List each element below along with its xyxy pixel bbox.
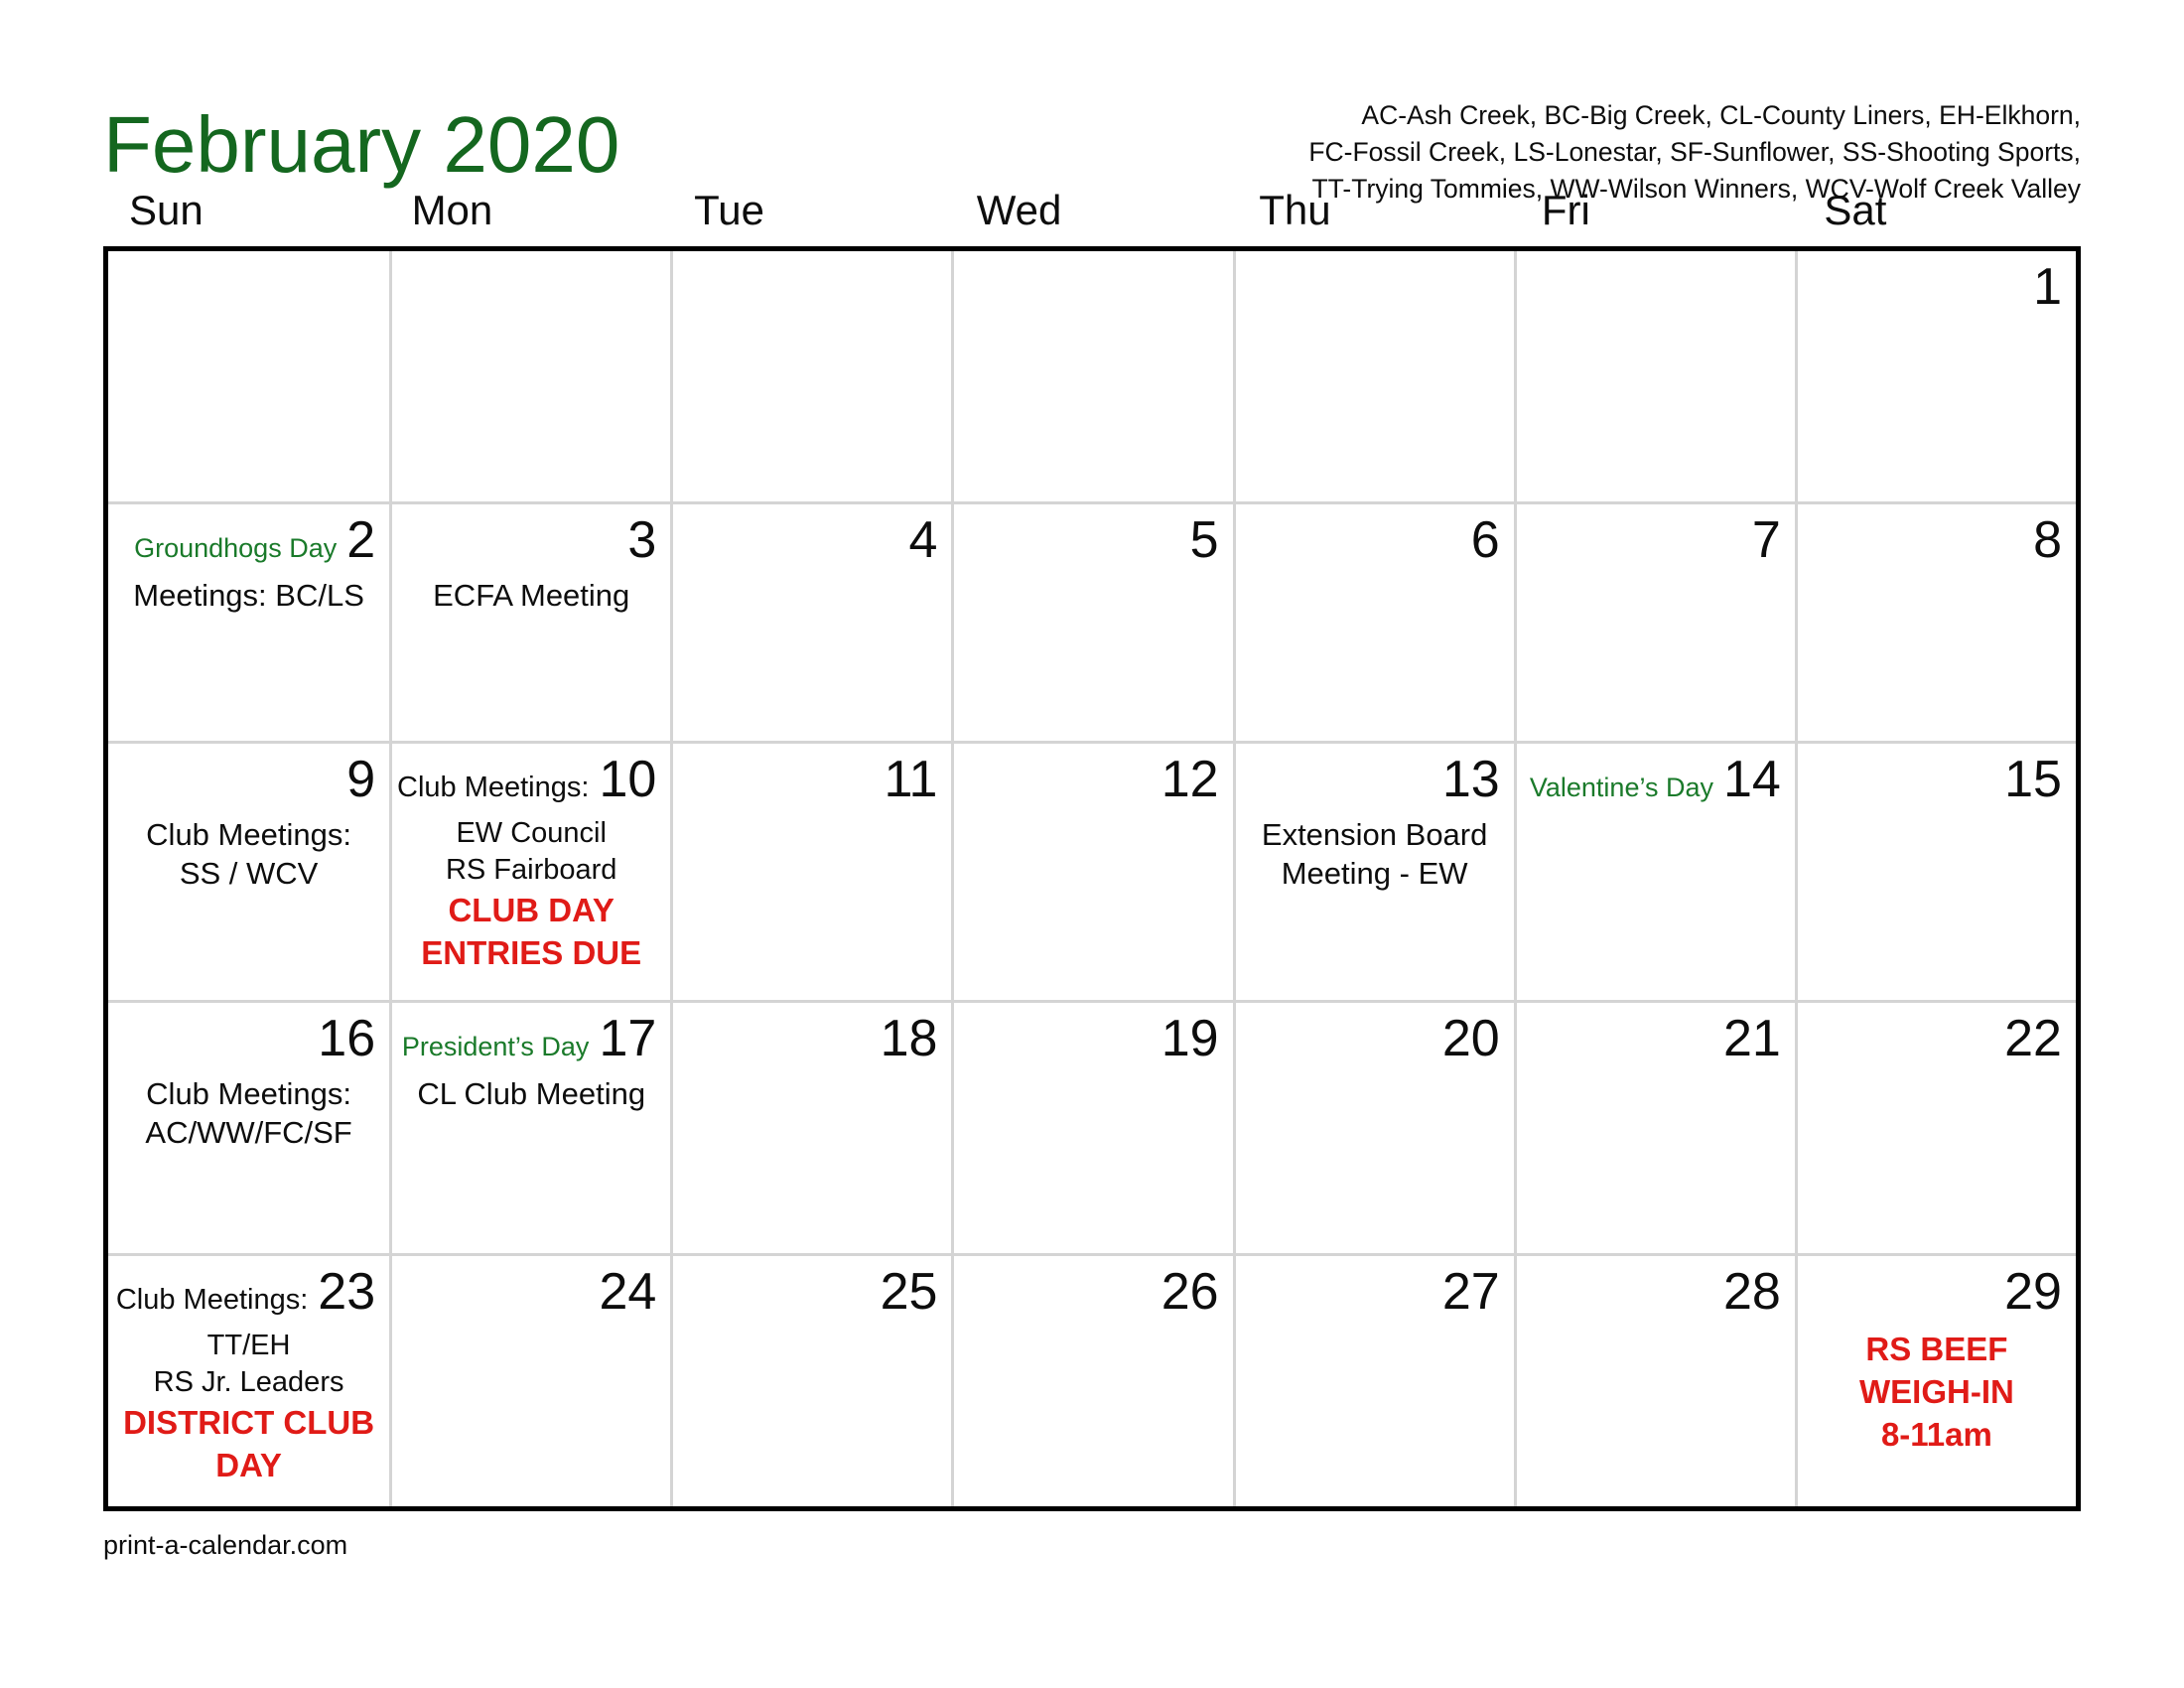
event-list: EW CouncilRS FairboardCLUB DAYENTRIES DU… xyxy=(406,815,656,974)
day-cell[interactable]: 19 xyxy=(951,1003,1232,1253)
page-header: February 2020 AC-Ash Creek, BC-Big Creek… xyxy=(0,0,2184,187)
day-cell[interactable]: 29RS BEEFWEIGH-IN8-11am xyxy=(1795,1256,2076,1506)
day-cell[interactable]: 22 xyxy=(1795,1003,2076,1253)
day-number: 4 xyxy=(909,512,938,568)
event-text: Club Meetings: xyxy=(122,1074,375,1113)
holiday-label: Valentine’s Day xyxy=(1530,771,1713,804)
day-header xyxy=(406,259,656,321)
day-number: 9 xyxy=(346,752,375,807)
day-cell[interactable]: 28 xyxy=(1514,1256,1795,1506)
day-header: 24 xyxy=(406,1264,656,1326)
day-cell[interactable]: 15 xyxy=(1795,744,2076,1000)
day-cell[interactable]: 1 xyxy=(1795,251,2076,501)
day-header: Club Meetings:23 xyxy=(122,1264,375,1326)
day-header: 4 xyxy=(687,512,937,574)
calendar-grid: 1Groundhogs Day2Meetings: BC/LS3ECFA Mee… xyxy=(103,246,2081,1511)
day-number: 8 xyxy=(2033,512,2062,568)
day-header: President’s Day17 xyxy=(406,1011,656,1072)
day-number: 18 xyxy=(881,1011,938,1066)
weekday-mon: Mon xyxy=(386,187,669,246)
day-number: 23 xyxy=(318,1264,375,1320)
day-cell[interactable]: 26 xyxy=(951,1256,1232,1506)
day-header: 26 xyxy=(968,1264,1218,1326)
event-alert-text: RS BEEF xyxy=(1812,1328,2062,1370)
inline-event-label: Club Meetings: xyxy=(116,1282,308,1318)
event-text: EW Council xyxy=(406,815,656,852)
day-header: 19 xyxy=(968,1011,1218,1072)
day-number: 14 xyxy=(1723,752,1781,807)
event-alert-text: DAY xyxy=(122,1444,375,1486)
day-number: 26 xyxy=(1161,1264,1219,1320)
day-number: 15 xyxy=(2004,752,2062,807)
day-header: 7 xyxy=(1531,512,1781,574)
event-text: RS Fairboard xyxy=(406,852,656,889)
day-header xyxy=(1531,259,1781,321)
event-text: RS Jr. Leaders xyxy=(122,1364,375,1401)
event-text: CL Club Meeting xyxy=(406,1074,656,1113)
day-cell[interactable]: 20 xyxy=(1233,1003,1514,1253)
day-header: 18 xyxy=(687,1011,937,1072)
event-list: TT/EHRS Jr. LeadersDISTRICT CLUBDAY xyxy=(122,1328,375,1486)
page-title: February 2020 xyxy=(103,101,619,189)
event-alert-text: 8-11am xyxy=(1812,1413,2062,1456)
event-list: ECFA Meeting xyxy=(406,576,656,615)
event-alert-text: WEIGH-IN xyxy=(1812,1370,2062,1413)
calendar-week-row: 16Club Meetings:AC/WW/FC/SFPresident’s D… xyxy=(108,1000,2076,1253)
page-footer: print-a-calendar.com xyxy=(103,1511,2081,1561)
day-cell[interactable]: 27 xyxy=(1233,1256,1514,1506)
legend-line-1: AC-Ash Creek, BC-Big Creek, CL-County Li… xyxy=(1308,97,2081,134)
source-link[interactable]: print-a-calendar.com xyxy=(103,1530,347,1560)
event-list: RS BEEFWEIGH-IN8-11am xyxy=(1812,1328,2062,1456)
day-number: 7 xyxy=(1752,512,1781,568)
day-number: 13 xyxy=(1442,752,1500,807)
day-cell[interactable]: President’s Day17CL Club Meeting xyxy=(389,1003,670,1253)
day-header: 6 xyxy=(1250,512,1500,574)
event-list: CL Club Meeting xyxy=(406,1074,656,1113)
day-header xyxy=(968,259,1218,321)
day-cell[interactable]: 18 xyxy=(670,1003,951,1253)
event-text: ECFA Meeting xyxy=(406,576,656,615)
day-header xyxy=(687,259,937,321)
day-header: 16 xyxy=(122,1011,375,1072)
day-number: 6 xyxy=(1471,512,1500,568)
day-number: 24 xyxy=(599,1264,656,1320)
day-cell[interactable]: 13Extension BoardMeeting - EW xyxy=(1233,744,1514,1000)
day-header: Groundhogs Day2 xyxy=(122,512,375,574)
day-number: 19 xyxy=(1161,1011,1219,1066)
day-header: 22 xyxy=(1812,1011,2062,1072)
day-cell[interactable]: 4 xyxy=(670,504,951,741)
day-header xyxy=(122,259,375,321)
event-text: Extension Board xyxy=(1250,815,1500,854)
day-cell[interactable]: 24 xyxy=(389,1256,670,1506)
calendar-week-row: 9Club Meetings:SS / WCVClub Meetings:10E… xyxy=(108,741,2076,1000)
day-header: 3 xyxy=(406,512,656,574)
day-cell-empty[interactable] xyxy=(389,251,670,501)
day-cell[interactable]: 5 xyxy=(951,504,1232,741)
day-number: 16 xyxy=(318,1011,375,1066)
day-cell[interactable]: 6 xyxy=(1233,504,1514,741)
day-cell-empty[interactable] xyxy=(951,251,1232,501)
day-header: 12 xyxy=(968,752,1218,813)
day-cell[interactable]: Club Meetings:23TT/EHRS Jr. LeadersDISTR… xyxy=(108,1256,389,1506)
day-cell[interactable]: 11 xyxy=(670,744,951,1000)
day-cell[interactable]: 3ECFA Meeting xyxy=(389,504,670,741)
event-text: Meetings: BC/LS xyxy=(122,576,375,615)
day-cell[interactable]: 12 xyxy=(951,744,1232,1000)
day-header: Club Meetings:10 xyxy=(406,752,656,813)
weekday-thu: Thu xyxy=(1233,187,1516,246)
day-cell[interactable]: Valentine’s Day14 xyxy=(1514,744,1795,1000)
legend-line-2: FC-Fossil Creek, LS-Lonestar, SF-Sunflow… xyxy=(1308,134,2081,171)
event-list: Club Meetings:AC/WW/FC/SF xyxy=(122,1074,375,1152)
day-header: 21 xyxy=(1531,1011,1781,1072)
event-text: Meeting - EW xyxy=(1250,854,1500,893)
event-list: Extension BoardMeeting - EW xyxy=(1250,815,1500,893)
day-cell[interactable]: Groundhogs Day2Meetings: BC/LS xyxy=(108,504,389,741)
day-header: Valentine’s Day14 xyxy=(1531,752,1781,813)
day-number: 22 xyxy=(2004,1011,2062,1066)
day-cell-empty[interactable] xyxy=(108,251,389,501)
day-number: 11 xyxy=(884,752,937,807)
weekday-tue: Tue xyxy=(668,187,951,246)
day-cell-empty[interactable] xyxy=(1514,251,1795,501)
event-alert-text: CLUB DAY xyxy=(406,889,656,931)
day-header: 9 xyxy=(122,752,375,813)
calendar-week-row: Groundhogs Day2Meetings: BC/LS3ECFA Meet… xyxy=(108,501,2076,741)
event-list: Club Meetings:SS / WCV xyxy=(122,815,375,893)
day-header: 1 xyxy=(1812,259,2062,321)
day-number: 29 xyxy=(2004,1264,2062,1320)
day-cell-empty[interactable] xyxy=(670,251,951,501)
day-number: 20 xyxy=(1442,1011,1500,1066)
day-number: 28 xyxy=(1723,1264,1781,1320)
day-number: 5 xyxy=(1190,512,1219,568)
holiday-label: President’s Day xyxy=(402,1030,590,1063)
day-cell[interactable]: 8 xyxy=(1795,504,2076,741)
day-number: 10 xyxy=(599,752,656,807)
day-number: 2 xyxy=(346,512,375,568)
inline-event-label: Club Meetings: xyxy=(397,770,589,805)
day-header: 8 xyxy=(1812,512,2062,574)
day-cell[interactable]: 7 xyxy=(1514,504,1795,741)
weekday-sun: Sun xyxy=(103,187,386,246)
day-header: 20 xyxy=(1250,1011,1500,1072)
day-header: 11 xyxy=(687,752,937,813)
day-header: 15 xyxy=(1812,752,2062,813)
event-list: Meetings: BC/LS xyxy=(122,576,375,615)
day-header: 28 xyxy=(1531,1264,1781,1326)
weekday-sat: Sat xyxy=(1798,187,2081,246)
day-cell[interactable]: 25 xyxy=(670,1256,951,1506)
day-number: 21 xyxy=(1723,1011,1781,1066)
day-cell-empty[interactable] xyxy=(1233,251,1514,501)
holiday-label: Groundhogs Day xyxy=(134,531,337,565)
day-cell[interactable]: 21 xyxy=(1514,1003,1795,1253)
day-number: 17 xyxy=(599,1011,656,1066)
calendar-week-row: Club Meetings:23TT/EHRS Jr. LeadersDISTR… xyxy=(108,1253,2076,1506)
event-text: Club Meetings: xyxy=(122,815,375,854)
day-number: 25 xyxy=(881,1264,938,1320)
day-cell[interactable]: 9Club Meetings:SS / WCV xyxy=(108,744,389,1000)
weekday-header-row: Sun Mon Tue Wed Thu Fri Sat xyxy=(103,187,2081,246)
day-cell[interactable]: Club Meetings:10EW CouncilRS FairboardCL… xyxy=(389,744,670,1000)
day-cell[interactable]: 16Club Meetings:AC/WW/FC/SF xyxy=(108,1003,389,1253)
day-header: 27 xyxy=(1250,1264,1500,1326)
day-number: 3 xyxy=(627,512,656,568)
event-text: SS / WCV xyxy=(122,854,375,893)
day-header: 13 xyxy=(1250,752,1500,813)
event-text: AC/WW/FC/SF xyxy=(122,1113,375,1152)
weekday-wed: Wed xyxy=(951,187,1234,246)
day-header: 29 xyxy=(1812,1264,2062,1326)
day-header xyxy=(1250,259,1500,321)
event-text: TT/EH xyxy=(122,1328,375,1364)
day-header: 5 xyxy=(968,512,1218,574)
day-number: 1 xyxy=(2033,259,2062,315)
calendar-page: February 2020 AC-Ash Creek, BC-Big Creek… xyxy=(0,0,2184,1688)
calendar-week-row: 1 xyxy=(108,251,2076,501)
day-number: 12 xyxy=(1161,752,1219,807)
weekday-fri: Fri xyxy=(1516,187,1799,246)
day-number: 27 xyxy=(1442,1264,1500,1320)
day-header: 25 xyxy=(687,1264,937,1326)
event-alert-text: DISTRICT CLUB xyxy=(122,1401,375,1444)
event-alert-text: ENTRIES DUE xyxy=(406,931,656,974)
